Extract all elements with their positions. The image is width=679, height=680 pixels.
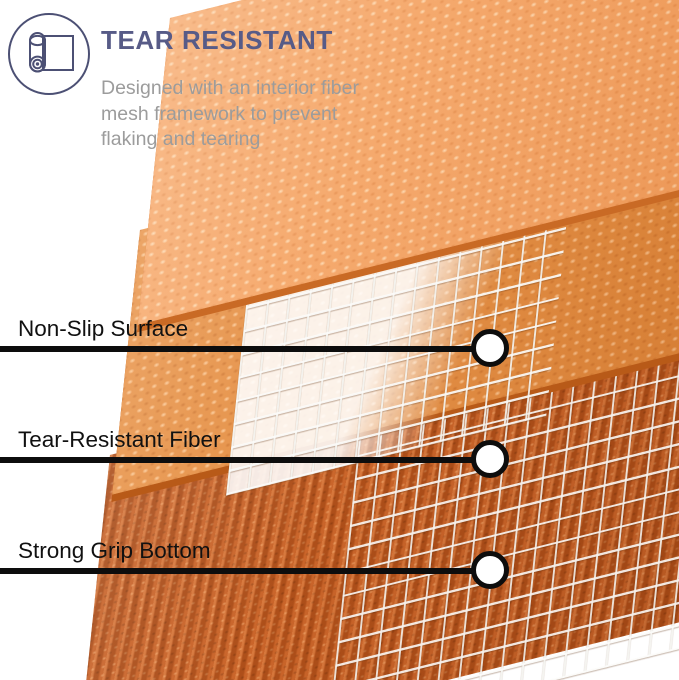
callout-rule — [0, 568, 490, 574]
callout-marker-dot — [471, 551, 509, 589]
callout-marker-dot — [471, 440, 509, 478]
callout-rule — [0, 346, 490, 352]
callout-label: Strong Grip Bottom — [18, 538, 211, 564]
callout-marker-dot — [471, 329, 509, 367]
callout-rule — [0, 457, 490, 463]
callout-group: Non-Slip Surface Tear-Resistant Fiber St… — [0, 0, 679, 680]
infographic-page: TEAR RESISTANT Designed with an interior… — [0, 0, 679, 680]
callout-label: Non-Slip Surface — [18, 316, 188, 342]
callout-label: Tear-Resistant Fiber — [18, 427, 221, 453]
